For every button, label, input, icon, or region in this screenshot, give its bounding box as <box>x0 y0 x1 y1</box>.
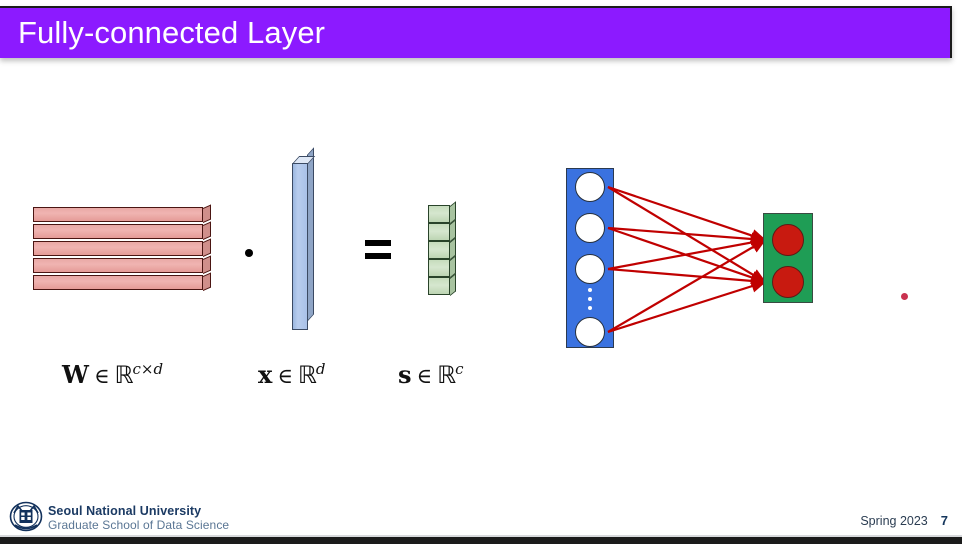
formula-s-set: ℝ <box>437 361 455 389</box>
matrix-w-row-side <box>203 221 211 240</box>
footer-term-label: Spring 2023 <box>860 514 927 528</box>
input-node <box>575 172 605 202</box>
formula-x-in: ∈ <box>272 364 298 388</box>
matrix-w-row-side <box>203 204 211 223</box>
matrix-w-row <box>33 275 203 290</box>
vector-s-cell <box>428 259 450 277</box>
footer-bottom-bar <box>0 537 962 544</box>
formula-w-in: ∈ <box>89 364 115 388</box>
equals-bar-top <box>365 240 391 246</box>
matrix-w-row <box>33 241 203 256</box>
formula-w-set: ℝ <box>115 361 133 389</box>
vector-s-graphic <box>428 205 460 300</box>
slide-title-bar: Fully-connected Layer <box>0 6 952 58</box>
formula-vector-s: s∈ℝc <box>398 360 463 389</box>
formula-w-symbol: W <box>62 360 89 389</box>
ellipsis-dot <box>588 297 592 301</box>
output-node <box>772 266 804 298</box>
vector-s-cell-side <box>450 273 456 296</box>
matrix-w-row <box>33 224 203 239</box>
ellipsis-dot <box>588 306 592 310</box>
formula-s-exponent: c <box>455 360 463 378</box>
slide-canvas: Fully-connected Layer <box>0 0 962 544</box>
vector-s-cell <box>428 277 450 295</box>
matrix-w-row <box>33 207 203 222</box>
red-marker-dot <box>901 293 908 300</box>
vector-x-side-face <box>307 147 314 322</box>
equals-bar-bottom <box>365 253 391 259</box>
input-node <box>575 254 605 284</box>
footer-brand: Seoul National University Graduate Schoo… <box>48 504 229 532</box>
vector-s-cell <box>428 205 450 223</box>
neural-network-diagram <box>555 160 835 360</box>
vector-x-graphic <box>292 155 314 330</box>
footer-page-number: 7 <box>941 513 948 528</box>
multiplication-dot-operator <box>245 249 253 257</box>
formula-x-symbol: x <box>258 360 272 389</box>
formula-w-exponent: c×d <box>133 360 164 378</box>
input-node <box>575 317 605 347</box>
formula-x-exponent: d <box>316 360 326 378</box>
slide-title: Fully-connected Layer <box>18 15 325 51</box>
vector-s-cell <box>428 223 450 241</box>
vector-x-front-face <box>292 163 308 330</box>
snu-emblem-logo <box>9 501 43 532</box>
footer-department-name: Graduate School of Data Science <box>48 518 229 532</box>
equals-sign <box>365 240 391 264</box>
formula-x-set: ℝ <box>298 361 316 389</box>
formula-matrix-w: W∈ℝc×d <box>62 360 163 389</box>
matrix-w-row-side <box>203 255 211 274</box>
vector-s-cell <box>428 241 450 259</box>
matrix-w-row-side <box>203 238 211 257</box>
matrix-w-graphic <box>33 207 211 295</box>
output-node <box>772 224 804 256</box>
footer-meta: Spring 2023 7 <box>860 513 948 528</box>
matrix-w-row <box>33 258 203 273</box>
ellipsis-dot <box>588 288 592 292</box>
input-node <box>575 213 605 243</box>
formula-s-symbol: s <box>398 360 412 389</box>
formula-s-in: ∈ <box>412 364 438 388</box>
formula-vector-x: x∈ℝd <box>258 360 325 389</box>
input-layer-ellipsis-icon <box>588 288 592 318</box>
footer-institution-name: Seoul National University <box>48 504 229 518</box>
matrix-w-row-side <box>203 272 211 291</box>
